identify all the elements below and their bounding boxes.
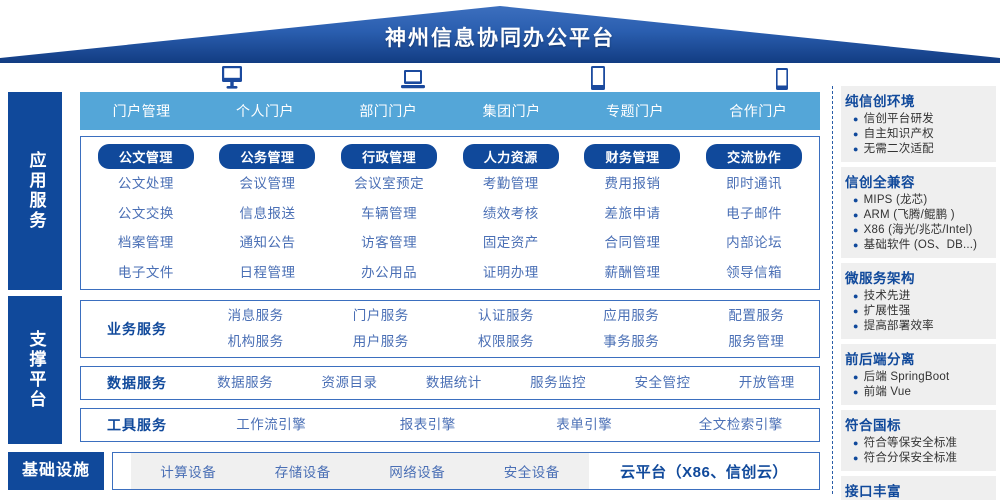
sidebar-section-title-0: 纯信创环境	[845, 90, 992, 110]
app-item-1-0[interactable]: 会议管理	[239, 177, 295, 191]
app-item-2-3[interactable]: 办公用品	[361, 266, 417, 280]
app-column-header-5[interactable]: 交流协作	[706, 144, 802, 169]
app-item-1-1[interactable]: 信息报送	[239, 207, 295, 221]
sidebar-list-item: ●符合等保安全标准	[845, 436, 992, 451]
bullet-icon: ●	[853, 304, 859, 319]
app-item-0-2[interactable]: 档案管理	[118, 236, 174, 250]
sidebar-item-label: 前端 Vue	[864, 385, 911, 400]
support-row-data: 数据服务 数据服务 资源目录 数据统计 服务监控 安全管控 开放管理	[80, 366, 820, 400]
app-column-header-1[interactable]: 公务管理	[219, 144, 315, 169]
support-data-item-0[interactable]: 数据服务	[193, 370, 297, 396]
sidebar-item-label: 符合等保安全标准	[864, 436, 958, 451]
desktop-monitor-icon	[220, 65, 244, 91]
app-item-2-2[interactable]: 访客管理	[361, 236, 417, 250]
sidebar-section-title-2: 微服务架构	[845, 267, 992, 287]
support-row-business: 业务服务 消息服务 门户服务 认证服务 应用服务 配置服务 机构服务 用户服务 …	[80, 300, 820, 358]
layer-label-support: 支撑平台	[8, 296, 62, 444]
architecture-diagram: 神州信息协同办公平台	[0, 0, 1000, 500]
app-item-4-1[interactable]: 差旅申请	[604, 207, 660, 221]
app-item-3-0[interactable]: 考勤管理	[483, 177, 539, 191]
bullet-icon: ●	[853, 142, 859, 157]
app-column-header-3[interactable]: 人力资源	[463, 144, 559, 169]
sidebar-item-label: ARM (飞腾/鲲鹏 )	[864, 208, 955, 223]
platform-title: 神州信息协同办公平台	[0, 22, 1000, 52]
sidebar-item-label: 自主知识产权	[864, 127, 934, 142]
sidebar-item-label: 技术先进	[864, 289, 911, 304]
app-column-header-0[interactable]: 公文管理	[98, 144, 194, 169]
sidebar-section-title-1: 信创全兼容	[845, 171, 992, 191]
sidebar-item-label: 扩展性强	[864, 304, 911, 319]
support-tool-item-0[interactable]: 工作流引擎	[193, 412, 350, 438]
support-business-item-1-3[interactable]: 事务服务	[569, 329, 694, 355]
sidebar-section-4: 符合国标 ●符合等保安全标准 ●符合分保安全标准	[841, 410, 996, 471]
app-column-0: 公文管理 公文处理 公文交换 档案管理 电子文件	[85, 144, 207, 295]
sidebar-list-item: ●前端 Vue	[845, 385, 992, 400]
bullet-icon: ●	[853, 193, 859, 208]
bullet-icon: ●	[853, 436, 859, 451]
sidebar-section-3: 前后端分离 ●后端 SpringBoot ●前端 Vue	[841, 344, 996, 405]
sidebar-list-item: ●基础软件 (OS、DB...)	[845, 238, 992, 253]
support-data-item-5[interactable]: 开放管理	[715, 370, 819, 396]
infrastructure-item-0[interactable]: 计算设备	[131, 461, 246, 481]
sidebar-list-item: ●X86 (海光/兆芯/Intel)	[845, 223, 992, 238]
support-business-item-1-1[interactable]: 用户服务	[318, 329, 443, 355]
sidebar-item-label: 基础软件 (OS、DB...)	[864, 238, 978, 253]
support-data-item-2[interactable]: 数据统计	[402, 370, 506, 396]
support-business-item-0-3[interactable]: 应用服务	[569, 303, 694, 329]
sidebar-item-label: 信创平台研发	[864, 112, 934, 127]
app-item-3-1[interactable]: 绩效考核	[483, 207, 539, 221]
support-business-line-2: 机构服务 用户服务 权限服务 事务服务 服务管理	[193, 329, 819, 355]
infrastructure-item-3[interactable]: 安全设备	[475, 461, 590, 481]
sidebar-section-title-5: 接口丰富	[845, 480, 992, 500]
app-item-4-0[interactable]: 费用报销	[604, 177, 660, 191]
sidebar-list-item: ●自主知识产权	[845, 127, 992, 142]
bullet-icon: ●	[853, 319, 859, 334]
support-data-item-3[interactable]: 服务监控	[506, 370, 610, 396]
bullet-icon: ●	[853, 112, 859, 127]
app-item-2-0[interactable]: 会议室预定	[354, 177, 424, 191]
infrastructure-item-2[interactable]: 网络设备	[360, 461, 475, 481]
infrastructure-item-1[interactable]: 存储设备	[246, 461, 361, 481]
support-business-item-1-4[interactable]: 服务管理	[694, 329, 819, 355]
sidebar-list-item: ●后端 SpringBoot	[845, 370, 992, 385]
support-data-line: 数据服务 资源目录 数据统计 服务监控 安全管控 开放管理	[193, 370, 819, 396]
app-item-3-3[interactable]: 证明办理	[483, 266, 539, 280]
support-tool-item-3[interactable]: 全文检索引擎	[663, 412, 820, 438]
support-data-item-4[interactable]: 安全管控	[610, 370, 714, 396]
app-item-0-0[interactable]: 公文处理	[118, 177, 174, 191]
portal-item-0[interactable]: 门户管理	[80, 101, 203, 121]
support-business-line-1: 消息服务 门户服务 认证服务 应用服务 配置服务	[193, 303, 819, 329]
bullet-icon: ●	[853, 223, 859, 238]
layer-label-infrastructure: 基础设施	[8, 452, 104, 490]
sidebar-list-item: ●信创平台研发	[845, 112, 992, 127]
app-item-0-3[interactable]: 电子文件	[118, 266, 174, 280]
feature-sidebar: 纯信创环境 ●信创平台研发 ●自主知识产权 ●无需二次适配 信创全兼容 ●MIP…	[832, 86, 996, 494]
sidebar-item-label: 提高部署效率	[864, 319, 934, 334]
app-item-5-2[interactable]: 内部论坛	[726, 236, 782, 250]
app-item-2-1[interactable]: 车辆管理	[361, 207, 417, 221]
bullet-icon: ●	[853, 385, 859, 400]
support-tool-line: 工作流引擎 报表引擎 表单引擎 全文检索引擎	[193, 412, 819, 438]
smartphone-icon	[775, 67, 789, 91]
layer-label-application: 应用服务	[8, 92, 62, 290]
bullet-icon: ●	[853, 238, 859, 253]
portal-item-3[interactable]: 集团门户	[450, 101, 573, 121]
sidebar-item-label: 无需二次适配	[864, 142, 934, 157]
application-services-panel: 公文管理 公文处理 公文交换 档案管理 电子文件 公务管理 会议管理 信息报送 …	[80, 136, 820, 290]
infrastructure-panel: 计算设备 存储设备 网络设备 安全设备 云平台（X86、信创云）	[112, 452, 820, 490]
app-column-5: 交流协作 即时通讯 电子邮件 内部论坛 领导信箱	[693, 144, 815, 295]
support-label-tool: 工具服务	[81, 415, 193, 435]
app-item-5-1[interactable]: 电子邮件	[726, 207, 782, 221]
app-item-1-2[interactable]: 通知公告	[239, 236, 295, 250]
bullet-icon: ●	[853, 370, 859, 385]
app-column-1: 公务管理 会议管理 信息报送 通知公告 日程管理	[207, 144, 329, 295]
app-item-0-1[interactable]: 公文交换	[118, 207, 174, 221]
sidebar-list-item: ●技术先进	[845, 289, 992, 304]
app-column-2: 行政管理 会议室预定 车辆管理 访客管理 办公用品	[328, 144, 450, 295]
sidebar-list-item: ●无需二次适配	[845, 142, 992, 157]
app-item-4-2[interactable]: 合同管理	[604, 236, 660, 250]
sidebar-section-5: 接口丰富 ●开放API管理	[841, 476, 996, 500]
sidebar-section-0: 纯信创环境 ●信创平台研发 ●自主知识产权 ●无需二次适配	[841, 86, 996, 162]
support-tool-item-1[interactable]: 报表引擎	[350, 412, 507, 438]
app-column-header-2[interactable]: 行政管理	[341, 144, 437, 169]
sidebar-list-item: ●ARM (飞腾/鲲鹏 )	[845, 208, 992, 223]
portal-item-2[interactable]: 部门门户	[327, 101, 450, 121]
support-tool-item-2[interactable]: 表单引擎	[506, 412, 663, 438]
sidebar-list-item: ●MIPS (龙芯)	[845, 193, 992, 208]
app-item-3-2[interactable]: 固定资产	[483, 236, 539, 250]
support-business-item-1-2[interactable]: 权限服务	[443, 329, 568, 355]
support-row-tool: 工具服务 工作流引擎 报表引擎 表单引擎 全文检索引擎	[80, 408, 820, 442]
sidebar-item-label: MIPS (龙芯)	[864, 193, 928, 208]
support-business-item-0-4[interactable]: 配置服务	[694, 303, 819, 329]
app-column-header-4[interactable]: 财务管理	[584, 144, 680, 169]
support-business-item-0-2[interactable]: 认证服务	[443, 303, 568, 329]
bullet-icon: ●	[853, 289, 859, 304]
app-item-5-3[interactable]: 领导信箱	[726, 266, 782, 280]
app-item-1-3[interactable]: 日程管理	[239, 266, 295, 280]
title-banner: 神州信息协同办公平台	[0, 0, 1000, 66]
app-item-4-3[interactable]: 薪酬管理	[604, 266, 660, 280]
sidebar-list-item: ●符合分保安全标准	[845, 451, 992, 466]
sidebar-list-item: ●扩展性强	[845, 304, 992, 319]
sidebar-list-item: ●提高部署效率	[845, 319, 992, 334]
bullet-icon: ●	[853, 208, 859, 223]
app-item-5-0[interactable]: 即时通讯	[726, 177, 782, 191]
device-icon-row	[80, 63, 820, 91]
sidebar-section-2: 微服务架构 ●技术先进 ●扩展性强 ●提高部署效率	[841, 263, 996, 339]
portal-bar: 门户管理 个人门户 部门门户 集团门户 专题门户 合作门户	[80, 92, 820, 130]
sidebar-item-label: 后端 SpringBoot	[864, 370, 950, 385]
support-business-item-0-1[interactable]: 门户服务	[318, 303, 443, 329]
sidebar-item-label: 符合分保安全标准	[864, 451, 958, 466]
infrastructure-cloud-platform[interactable]: 云平台（X86、信创云）	[589, 461, 819, 482]
app-column-3: 人力资源 考勤管理 绩效考核 固定资产 证明办理	[450, 144, 572, 295]
support-business-item-1-0[interactable]: 机构服务	[193, 329, 318, 355]
support-label-data: 数据服务	[81, 373, 193, 393]
infrastructure-device-group: 计算设备 存储设备 网络设备 安全设备	[131, 453, 589, 489]
sidebar-section-1: 信创全兼容 ●MIPS (龙芯) ●ARM (飞腾/鲲鹏 ) ●X86 (海光/…	[841, 167, 996, 258]
portal-item-4[interactable]: 专题门户	[573, 101, 696, 121]
bullet-icon: ●	[853, 127, 859, 142]
portal-item-1[interactable]: 个人门户	[203, 101, 326, 121]
bullet-icon: ●	[853, 451, 859, 466]
sidebar-section-title-3: 前后端分离	[845, 348, 992, 368]
support-label-business: 业务服务	[81, 319, 193, 339]
tablet-icon	[590, 65, 606, 91]
portal-item-5[interactable]: 合作门户	[697, 101, 820, 121]
app-column-4: 财务管理 费用报销 差旅申请 合同管理 薪酬管理	[572, 144, 694, 295]
support-business-item-0-0[interactable]: 消息服务	[193, 303, 318, 329]
support-data-item-1[interactable]: 资源目录	[297, 370, 401, 396]
laptop-icon	[400, 69, 426, 91]
sidebar-item-label: X86 (海光/兆芯/Intel)	[864, 223, 973, 238]
sidebar-section-title-4: 符合国标	[845, 414, 992, 434]
